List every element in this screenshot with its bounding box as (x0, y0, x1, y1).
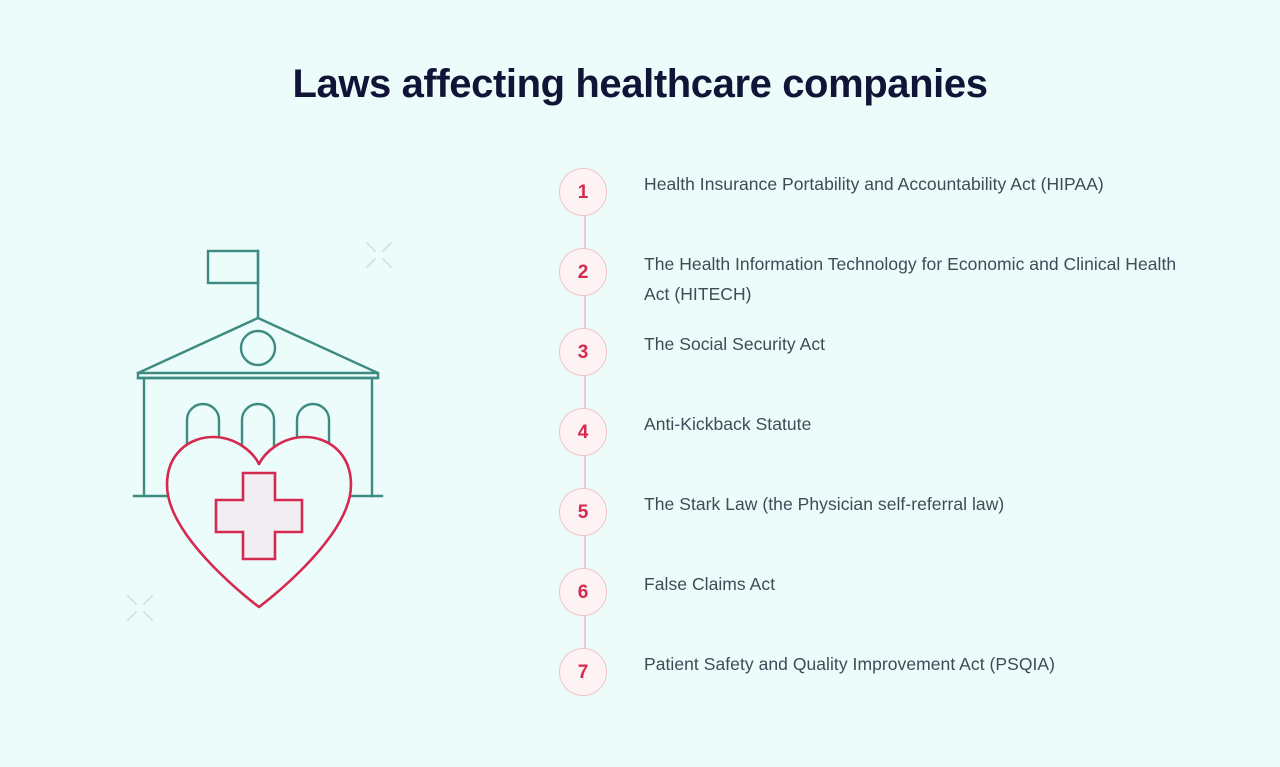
list-item-label: The Social Security Act (644, 329, 1204, 359)
page-title: Laws affecting healthcare companies (0, 58, 1280, 110)
step-badge-4: 4 (559, 408, 607, 456)
step-badge-7: 7 (559, 648, 607, 696)
list-item-label: Health Insurance Portability and Account… (644, 169, 1204, 199)
list-item-label: The Stark Law (the Physician self-referr… (644, 489, 1204, 519)
list-item-label: False Claims Act (644, 569, 1204, 599)
step-badge-3: 3 (559, 328, 607, 376)
roof-pediment (138, 318, 378, 378)
step-badge-5: 5 (559, 488, 607, 536)
laws-timeline-list: 1 Health Insurance Portability and Accou… (556, 160, 1216, 720)
list-item-label: Anti-Kickback Statute (644, 409, 1204, 439)
list-item-label: The Health Information Technology for Ec… (644, 249, 1204, 309)
pediment-circle-icon (241, 331, 275, 365)
sparkle-top-right-icon (367, 243, 391, 267)
hospital-building-illustration (110, 228, 420, 628)
sparkle-bottom-left-icon (128, 596, 152, 620)
step-badge-2: 2 (559, 248, 607, 296)
step-badge-6: 6 (559, 568, 607, 616)
step-badge-1: 1 (559, 168, 607, 216)
list-item-label: Patient Safety and Quality Improvement A… (644, 649, 1204, 679)
infographic-canvas: Laws affecting healthcare companies (0, 0, 1280, 767)
flag-icon (208, 251, 258, 283)
